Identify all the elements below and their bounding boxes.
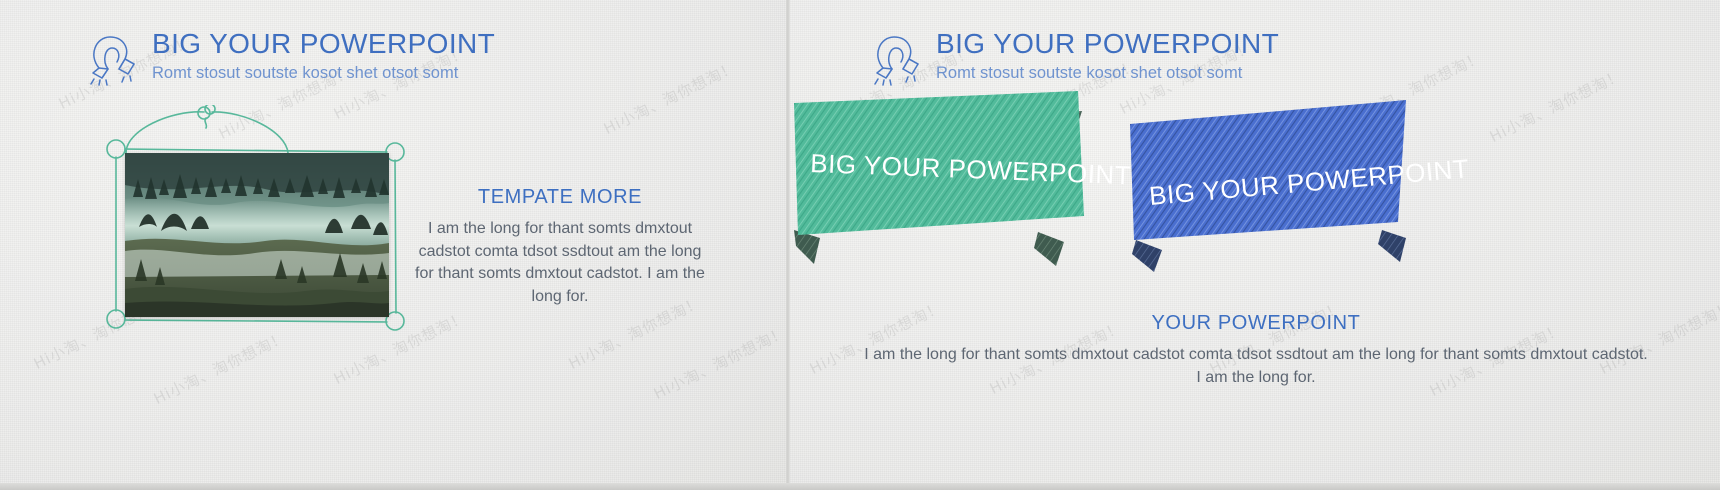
magnet-icon bbox=[866, 28, 924, 86]
left-heading: TEMPATE MORE bbox=[410, 186, 710, 209]
bottom-edge bbox=[0, 483, 1720, 490]
right-text-block: YOUR POWERPOINT I am the long for thant … bbox=[861, 312, 1651, 389]
banner-green[interactable]: BIG YOUR POWERPOINT bbox=[794, 91, 1132, 266]
header-title: BIG YOUR POWERPOINT bbox=[152, 29, 495, 58]
slide-deck: Hi小淘、淘你想淘！ Hi小淘、淘你想淘！ Hi小淘、淘你想淘！ Hi小淘、淘你… bbox=[0, 0, 1720, 490]
magnet-icon bbox=[82, 28, 140, 86]
header-title: BIG YOUR POWERPOINT bbox=[936, 29, 1279, 58]
slide-header-right: BIG YOUR POWERPOINT Romt stosut soutste … bbox=[866, 26, 1279, 86]
header-subtitle: Romt stosut soutste kosot shet otsot som… bbox=[936, 64, 1279, 83]
left-paragraph: I am the long for thant somts dmxtout ca… bbox=[410, 218, 710, 309]
banner-blue[interactable]: BIG YOUR POWERPOINT bbox=[1130, 100, 1470, 272]
slide-header-left: BIG YOUR POWERPOINT Romt stosut soutste … bbox=[82, 26, 495, 86]
watermark: Hi小淘、淘你想淘！ bbox=[600, 56, 740, 139]
header-text-block: BIG YOUR POWERPOINT Romt stosut soutste … bbox=[152, 26, 495, 83]
left-text-block: TEMPATE MORE I am the long for thant som… bbox=[410, 186, 710, 309]
slide-right: Hi小淘、淘你想淘！ Hi小淘、淘你想淘！ Hi小淘、淘你想淘！ Hi小淘、淘你… bbox=[786, 0, 1720, 490]
right-paragraph: I am the long for thant somts dmxtout ca… bbox=[861, 343, 1651, 389]
right-heading: YOUR POWERPOINT bbox=[861, 312, 1651, 335]
header-subtitle: Romt stosut soutste kosot shet otsot som… bbox=[152, 64, 495, 83]
slide-divider bbox=[786, 0, 790, 490]
photo-misty-forest bbox=[125, 153, 389, 317]
header-text-block: BIG YOUR POWERPOINT Romt stosut soutste … bbox=[936, 26, 1279, 83]
slide-left: Hi小淘、淘你想淘！ Hi小淘、淘你想淘！ Hi小淘、淘你想淘！ Hi小淘、淘你… bbox=[0, 0, 786, 490]
watermark: Hi小淘、淘你想淘！ bbox=[650, 321, 786, 404]
photo-image bbox=[125, 153, 389, 317]
